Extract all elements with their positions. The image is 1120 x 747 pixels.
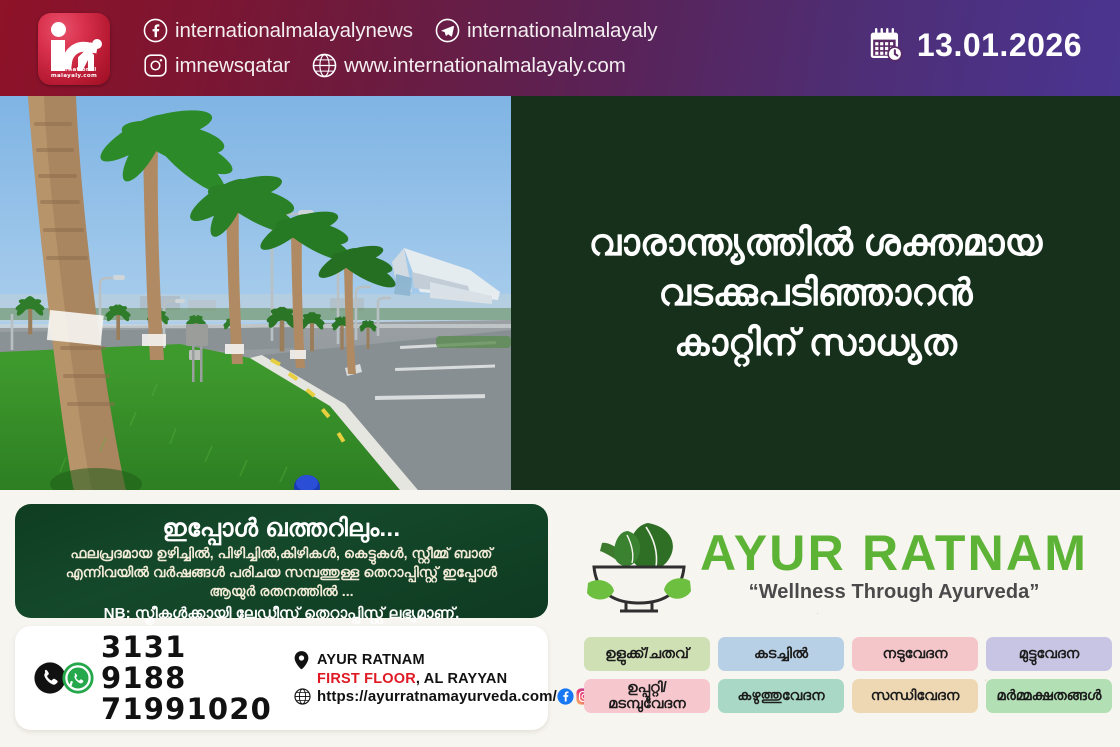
news-photo: [0, 96, 511, 490]
address-floor: FIRST FLOOR: [317, 671, 416, 687]
logo-accent-dot: [92, 39, 102, 49]
website-row[interactable]: https://ayurratnamayurveda.com/: [294, 688, 593, 706]
news-poster: international malayaly.com international…: [0, 0, 1120, 747]
service-tag[interactable]: ഉപ്പൂറ്റി/ മടമ്പുവേദന: [584, 679, 710, 713]
social-item-instagram[interactable]: imnewsqatar: [143, 53, 290, 78]
website-link: https://ayurratnamayurveda.com/: [317, 688, 557, 706]
service-tags: ഉളുക്ക്/ചതവ് കടച്ചിൽ നടുവേദന മുട്ടുവേദന …: [584, 637, 1112, 713]
phone-secondary: 71991020: [101, 694, 272, 725]
ayur-ratnam-logo: AYUR RATNAM “Wellness Through Ayurveda”: [586, 510, 1106, 620]
telegram-icon: [435, 18, 460, 43]
instagram-icon: [143, 53, 168, 78]
business-name-row: AYUR RATNAM: [294, 651, 593, 670]
social-item-website[interactable]: www.internationalmalayaly.com: [312, 53, 626, 78]
address-text: FIRST FLOOR, AL RAYYAN: [317, 670, 507, 688]
brand-logo[interactable]: international malayaly.com: [38, 13, 110, 85]
promo-title: ഇപ്പോൾ ഖത്തറിലും...: [29, 513, 534, 545]
social-links: internationalmalayalynews internationalm…: [143, 13, 657, 83]
service-tag[interactable]: ഉളുക്ക്/ചതവ്: [584, 637, 710, 671]
brand-tagline: “Wellness Through Ayurveda”: [700, 581, 1088, 604]
service-tag[interactable]: മുട്ടുവേദന: [986, 637, 1112, 671]
service-tag[interactable]: മർമ്മക്ഷതങ്ങൾ: [986, 679, 1112, 713]
facebook-icon: [143, 18, 168, 43]
facebook-icon[interactable]: [557, 688, 574, 705]
whatsapp-icon[interactable]: [61, 661, 95, 695]
brand-name: AYUR RATNAM: [700, 525, 1088, 581]
brand-wordmark: AYUR RATNAM “Wellness Through Ayurveda”: [700, 527, 1088, 604]
promo-note: NB: സ്ത്രീകൾക്കായി ലേഡീസ് തെറാപ്പിസ്റ്റ്…: [29, 603, 534, 625]
service-tag[interactable]: സന്ധിവേദന: [852, 679, 978, 713]
advert-section: ഇപ്പോൾ ഖത്തറിലും... ഫലപ്രദമായ ഉഴിച്ചിൽ, …: [0, 490, 1120, 747]
date-block: 13.01.2026: [867, 26, 1082, 64]
social-item-telegram[interactable]: internationalmalayaly: [435, 18, 657, 43]
address-area: , AL RAYYAN: [416, 671, 507, 687]
globe-icon: [312, 53, 337, 78]
location-pin-icon: [294, 651, 312, 670]
telegram-handle: internationalmalayaly: [467, 19, 657, 43]
service-tag[interactable]: നടുവേദന: [852, 637, 978, 671]
globe-icon: [294, 688, 312, 705]
promo-body-line-2: എന്നിവയിൽ വർഷങ്ങൾ പരിചയ സമ്പത്തുള്ള തെറാ…: [29, 564, 534, 583]
social-row-2: imnewsqatar www.internationalmalayaly.co…: [143, 48, 657, 83]
address-row: FIRST FLOOR, AL RAYYAN: [294, 670, 593, 688]
address-block: AYUR RATNAM FIRST FLOOR, AL RAYYAN https…: [294, 651, 593, 706]
logo-caption-line2: malayaly.com: [51, 73, 97, 79]
phone-primary: 3131 9188: [101, 632, 272, 694]
contact-card: 3131 9188 71991020 AYUR RATNAM FIRST FLO…: [15, 626, 548, 730]
main-section: വാരാന്ത്യത്തിൽ ശക്തമായ വടക്കുപടിഞ്ഞാറൻ ക…: [0, 96, 1120, 490]
logo-caption-line1: international: [52, 67, 97, 73]
service-tag[interactable]: കടച്ചിൽ: [718, 637, 844, 671]
promo-box: ഇപ്പോൾ ഖത്തറിലും... ഫലപ്രദമായ ഉഴിച്ചിൽ, …: [15, 504, 548, 618]
social-row-1: internationalmalayalynews internationalm…: [143, 13, 657, 48]
social-item-facebook[interactable]: internationalmalayalynews: [143, 18, 413, 43]
logo-dot: [51, 22, 66, 37]
mortar-pestle-leaf-icon: [586, 515, 694, 615]
photo-illustration: [0, 96, 511, 490]
phone-numbers[interactable]: 3131 9188 71991020: [101, 632, 272, 725]
publication-date: 13.01.2026: [917, 27, 1082, 64]
headline-line-3: കാറ്റിന് സാധ്യത: [674, 318, 957, 368]
facebook-handle: internationalmalayalynews: [175, 19, 413, 43]
calendar-icon: [867, 26, 905, 64]
call-icons: [33, 661, 95, 695]
instagram-handle: imnewsqatar: [175, 54, 290, 78]
promo-body-line-1: ഫലപ്രദമായ ഉഴിച്ചിൽ, പിഴിച്ചിൽ,കിഴികൾ, കെ…: [29, 545, 534, 564]
headline-panel: വാരാന്ത്യത്തിൽ ശക്തമായ വടക്കുപടിഞ്ഞാറൻ ക…: [511, 96, 1120, 490]
website-url: www.internationalmalayaly.com: [344, 54, 626, 78]
logo-caption: international malayaly.com: [38, 67, 110, 80]
page-header: international malayaly.com international…: [0, 0, 1120, 96]
service-tag[interactable]: കഴുത്തുവേദന: [718, 679, 844, 713]
headline-line-2: വടക്കുപടിഞ്ഞാറൻ: [658, 268, 972, 318]
business-name: AYUR RATNAM: [317, 651, 425, 669]
promo-body-line-3: ആയുർ രതനത്തിൽ ...: [29, 583, 534, 602]
headline-line-1: വാരാന്ത്യത്തിൽ ശക്തമായ: [589, 218, 1043, 268]
